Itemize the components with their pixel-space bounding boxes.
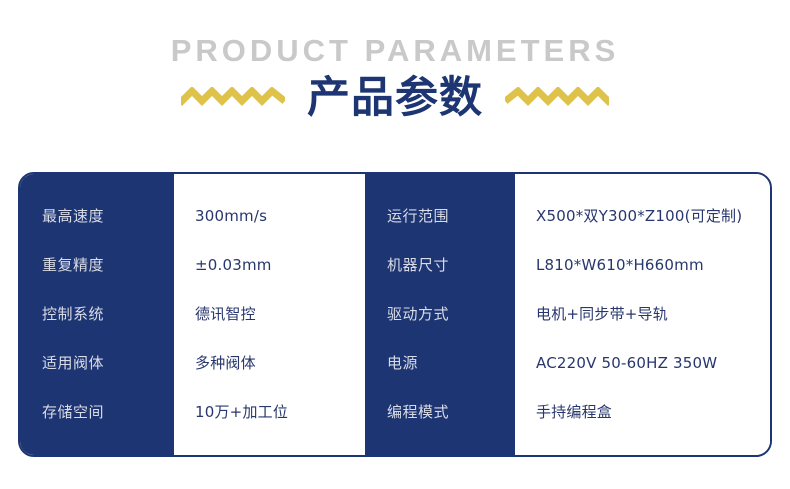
zigzag-ornament-right-icon: [505, 87, 609, 109]
parameter-value: L810*W610*H660mm: [536, 241, 770, 290]
parameter-label-column-left: 最高速度 重复精度 控制系统 适用阀体 存储空间: [20, 174, 174, 455]
parameter-label-column-right: 运行范围 机器尺寸 驱动方式 电源 编程模式: [365, 174, 515, 455]
parameter-value: 300mm/s: [195, 192, 365, 241]
parameter-label: 存储空间: [42, 388, 174, 437]
parameter-value: 手持编程盒: [536, 388, 770, 437]
parameter-value: 电机+同步带+导轨: [536, 290, 770, 339]
parameter-value: ±0.03mm: [195, 241, 365, 290]
parameter-label: 机器尺寸: [387, 241, 515, 290]
parameter-value: X500*双Y300*Z100(可定制): [536, 192, 770, 241]
parameters-group-right: 运行范围 机器尺寸 驱动方式 电源 编程模式 X500*双Y300*Z100(可…: [365, 174, 770, 455]
parameter-label: 重复精度: [42, 241, 174, 290]
parameter-value-column-left: 300mm/s ±0.03mm 德讯智控 多种阀体 10万+加工位: [174, 174, 365, 455]
parameter-label: 运行范围: [387, 192, 515, 241]
parameter-label: 适用阀体: [42, 339, 174, 388]
parameter-label: 编程模式: [387, 388, 515, 437]
parameter-label: 电源: [387, 339, 515, 388]
parameter-value: 多种阀体: [195, 339, 365, 388]
page-title-row: 产品参数: [0, 70, 790, 126]
parameter-value: 10万+加工位: [195, 388, 365, 437]
product-parameters-table: 最高速度 重复精度 控制系统 适用阀体 存储空间 300mm/s ±0.03mm…: [18, 172, 772, 457]
page-header: PRODUCT PARAMETERS 产品参数: [0, 0, 790, 150]
parameter-label: 最高速度: [42, 192, 174, 241]
parameter-label: 驱动方式: [387, 290, 515, 339]
parameter-label: 控制系统: [42, 290, 174, 339]
page-title: 产品参数: [307, 73, 483, 123]
parameter-value-column-right: X500*双Y300*Z100(可定制) L810*W610*H660mm 电机…: [515, 174, 770, 455]
zigzag-ornament-left-icon: [181, 87, 285, 109]
page-eyebrow-heading: PRODUCT PARAMETERS: [0, 33, 790, 69]
parameters-group-left: 最高速度 重复精度 控制系统 适用阀体 存储空间 300mm/s ±0.03mm…: [20, 174, 365, 455]
parameter-value: 德讯智控: [195, 290, 365, 339]
parameter-value: AC220V 50-60HZ 350W: [536, 339, 770, 388]
